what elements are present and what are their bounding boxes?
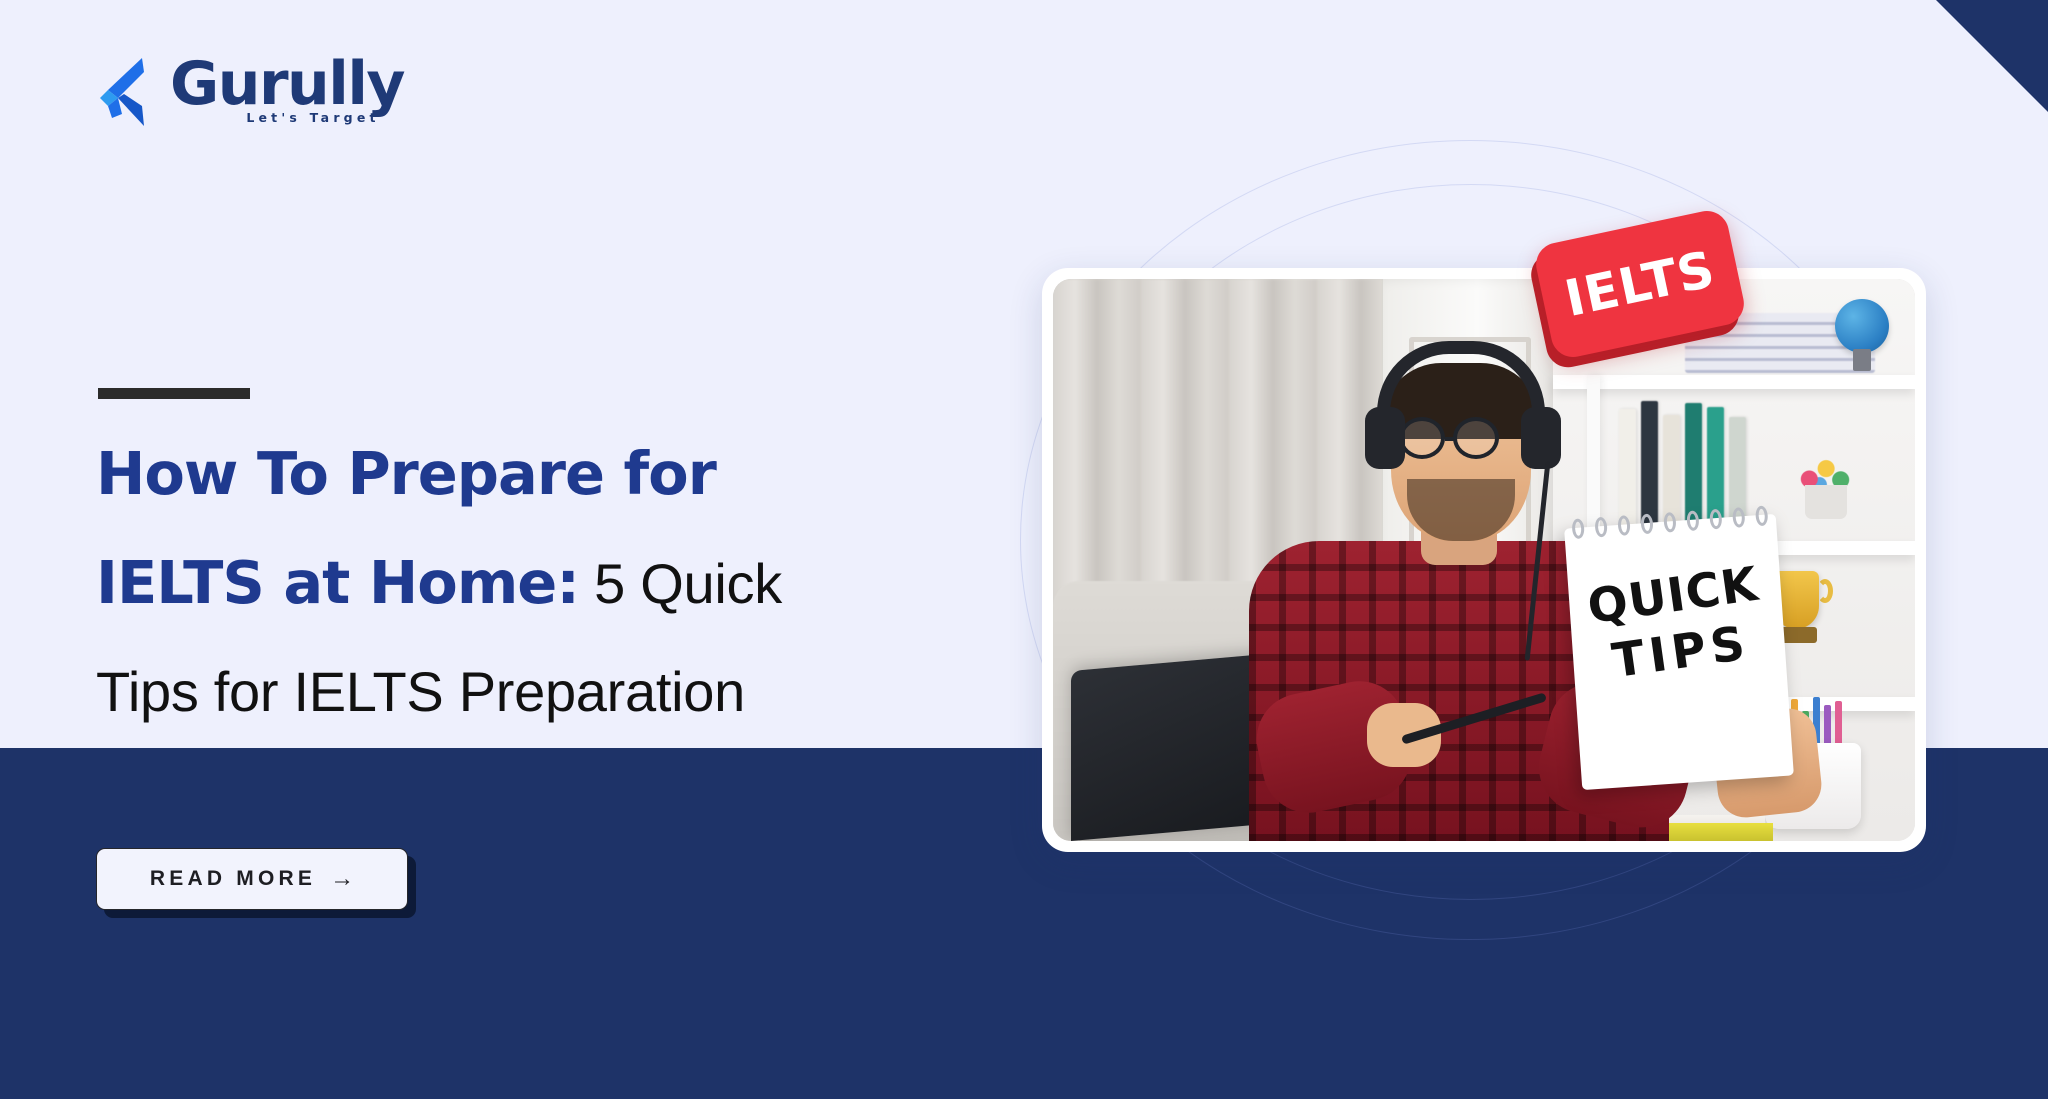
headline-line-3: Tips for IELTS Preparation (96, 638, 996, 746)
headline-line-1: How To Prepare for (96, 420, 996, 529)
read-more-button[interactable]: READ MORE → (96, 848, 408, 910)
spiral-ring (1686, 510, 1699, 531)
spiral-ring (1732, 507, 1745, 528)
headline-line-2: IELTS at Home: 5 Quick (96, 529, 996, 638)
glasses-icon (1399, 417, 1445, 459)
globe-icon (1835, 299, 1889, 353)
corner-triangle-icon (1936, 0, 2048, 112)
globe-stand (1853, 349, 1871, 371)
ielts-badge-label: IELTS (1560, 240, 1720, 328)
headline-line-3-normal: Tips for IELTS Preparation (96, 660, 745, 723)
headphone-earcup (1365, 407, 1405, 469)
glasses-bridge (1445, 437, 1457, 441)
spiral-ring (1571, 518, 1584, 539)
hero-photo: QUICK TIPS (1053, 279, 1915, 841)
spiral-ring (1709, 509, 1722, 530)
headphone-earcup (1521, 407, 1561, 469)
plant-pot (1805, 485, 1847, 519)
promo-banner: Gurully Let's Target How To Prepare for … (0, 0, 2048, 1099)
spiral-ring (1617, 515, 1630, 536)
quick-tips-notepad: QUICK TIPS (1564, 514, 1794, 790)
read-more-label: READ MORE (150, 867, 316, 891)
spiral-ring (1640, 514, 1653, 535)
headline-line-2-strong: IELTS at Home: (96, 548, 579, 617)
brand-name: Gurully (170, 52, 404, 116)
notepad-text: QUICK TIPS (1565, 559, 1789, 690)
spiral-ring (1594, 517, 1607, 538)
arrow-right-icon: → (330, 867, 354, 891)
headline-rule (98, 388, 250, 399)
glasses-icon (1453, 417, 1499, 459)
page-title: How To Prepare for IELTS at Home: 5 Quic… (96, 420, 996, 746)
headline-line-2-normal: 5 Quick (579, 552, 782, 615)
headline-line-1-strong: How To Prepare for (96, 439, 716, 508)
spiral-ring (1755, 506, 1768, 527)
hero-photo-card: QUICK TIPS (1042, 268, 1926, 852)
spiral-ring (1663, 512, 1676, 533)
brand-tagline: Let's Target (222, 110, 404, 125)
chevron-left-arrow-icon (98, 56, 160, 128)
brand-logo[interactable]: Gurully Let's Target (98, 52, 404, 128)
photo-scene: QUICK TIPS (1053, 279, 1915, 841)
trophy-handle (1817, 579, 1833, 603)
